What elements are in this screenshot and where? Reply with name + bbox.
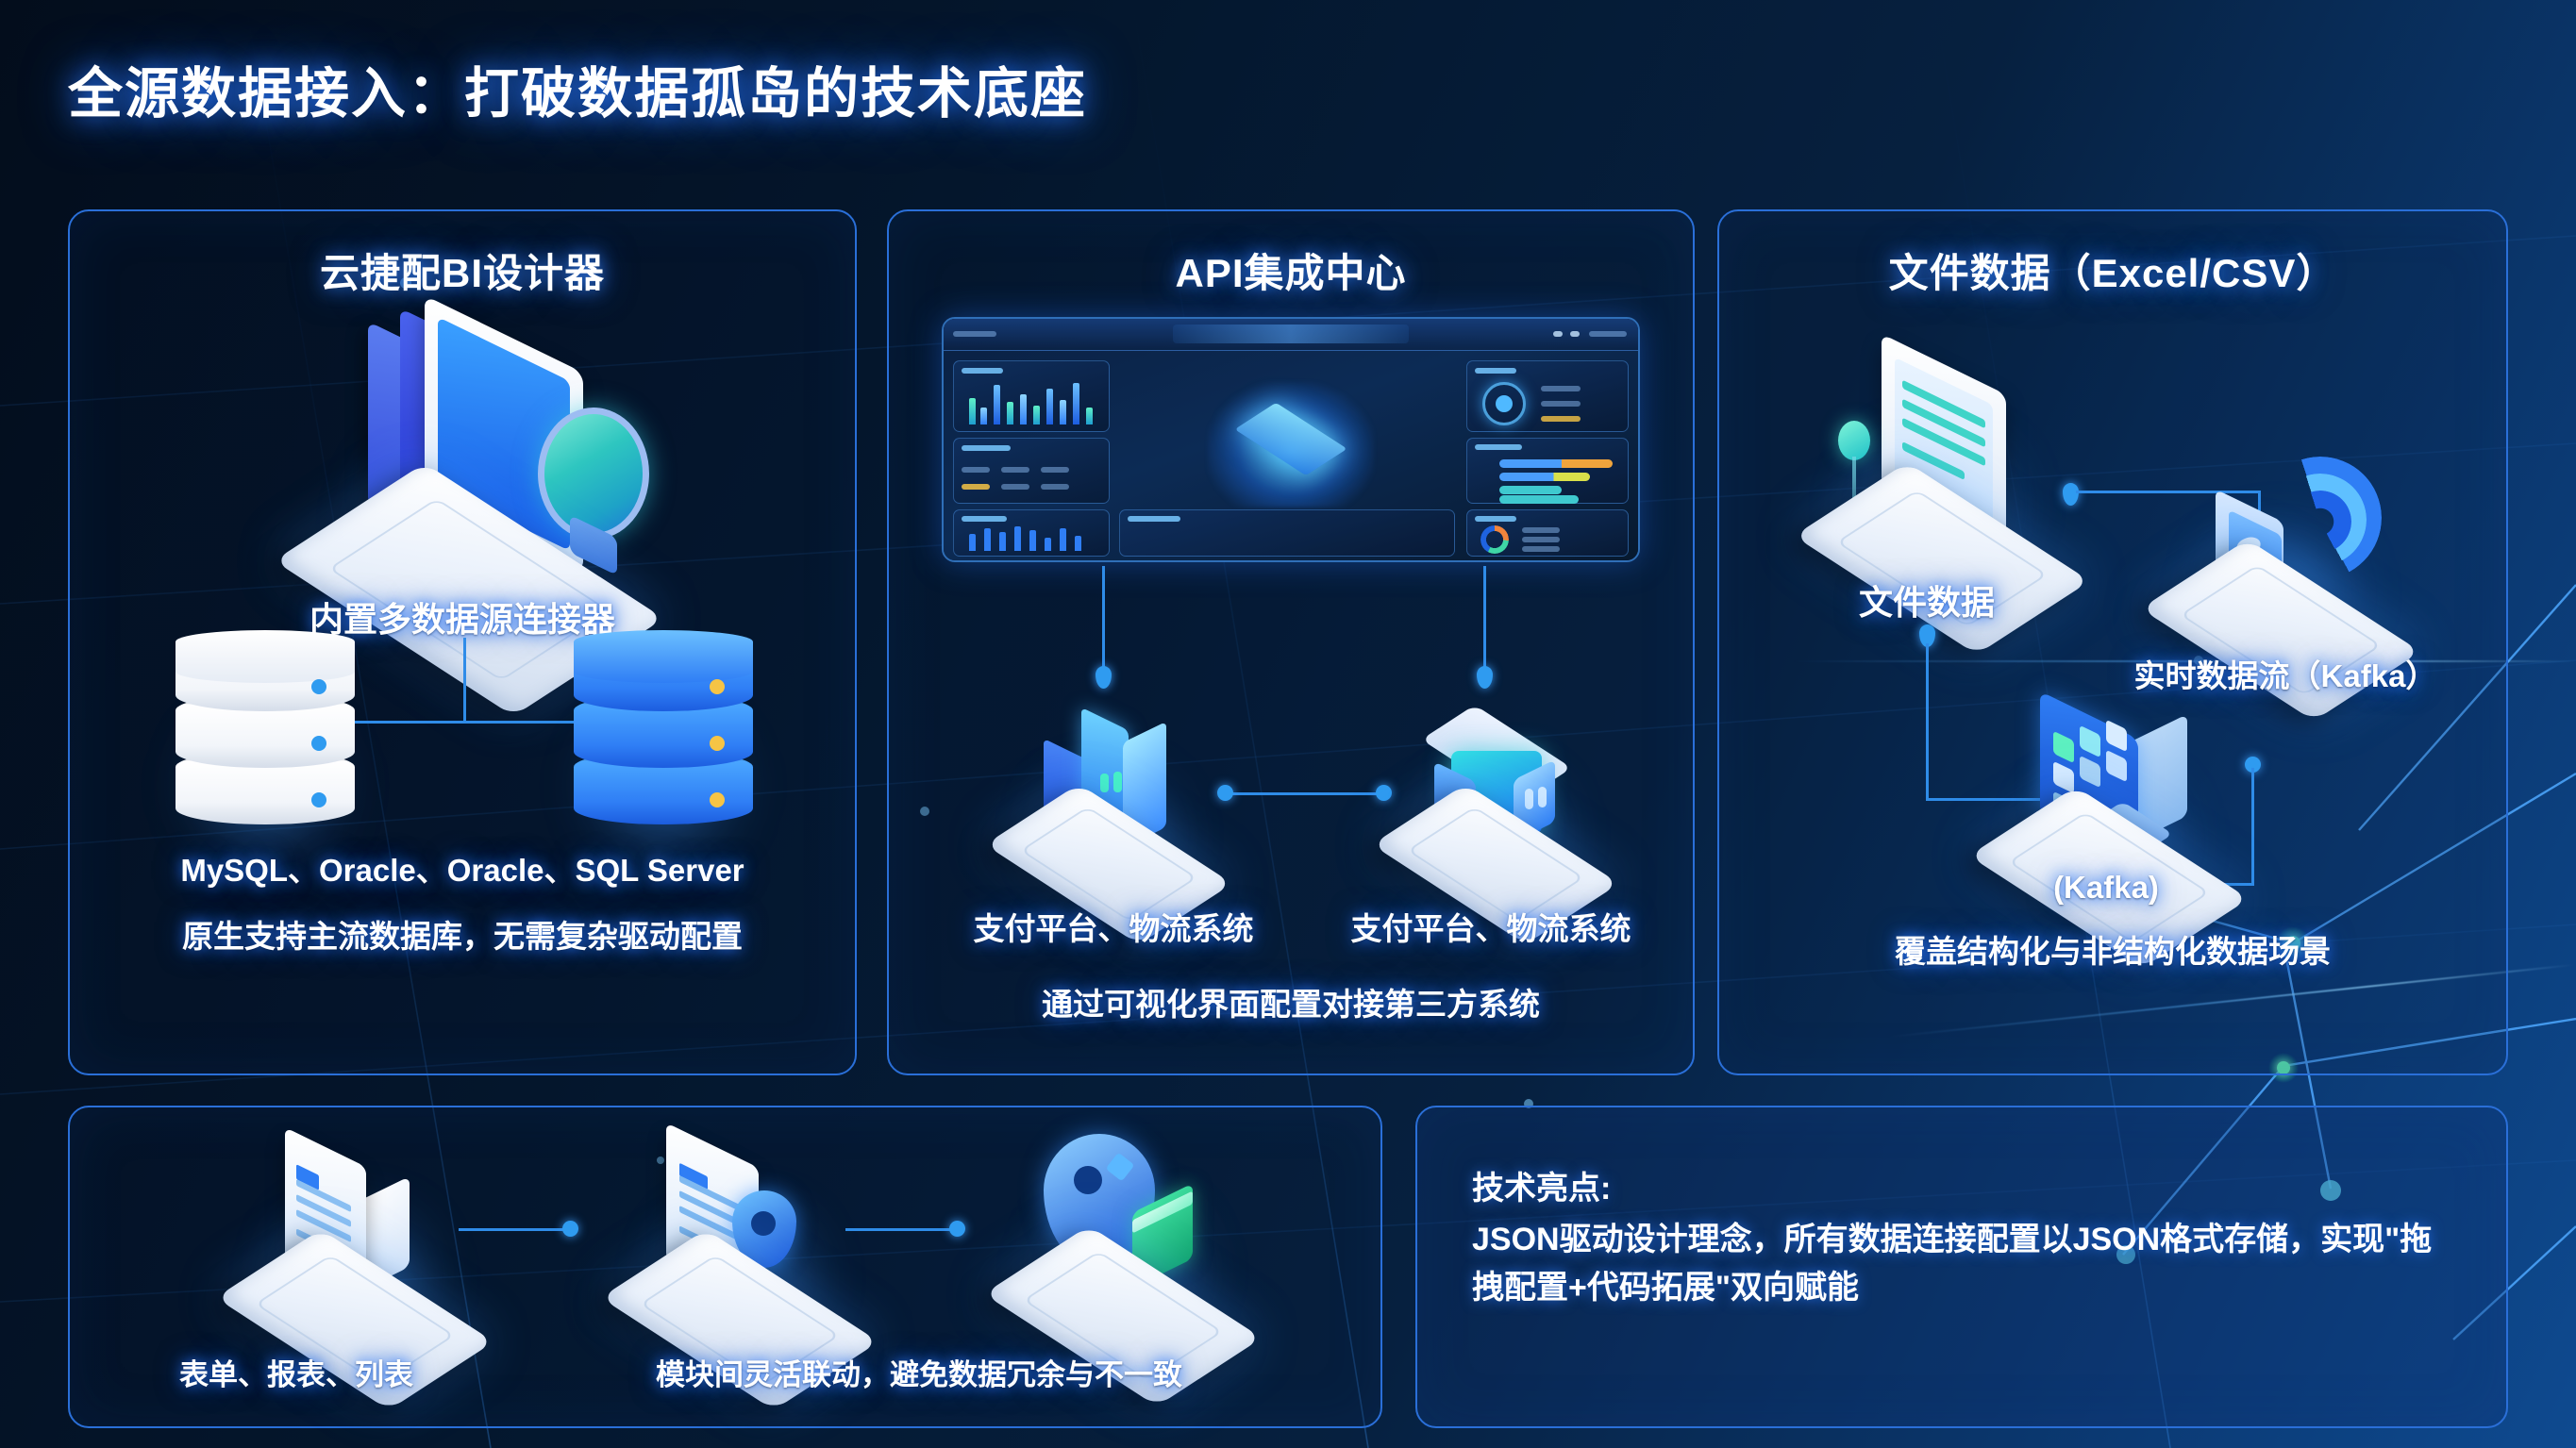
flow-arrow-2 <box>845 1228 957 1231</box>
card-file-title: 文件数据（Excel/CSV） <box>1719 241 2506 299</box>
api-node-right-label: 支付平台、物流系统 <box>1321 904 1661 949</box>
card-api-title: API集成中心 <box>889 241 1693 299</box>
api-dot-left <box>1217 785 1233 801</box>
api-node-left-label: 支付平台、物流系统 <box>944 904 1283 949</box>
database-cylinder-icon-white <box>176 630 355 819</box>
tech-heading: 技术亮点: <box>1472 1162 2461 1208</box>
flow-dot-2 <box>949 1221 965 1237</box>
flow-left-caption: 表单、报表、列表 <box>126 1351 466 1393</box>
database-cylinder-icon-blue <box>574 630 753 819</box>
file-footer: 覆盖结构化与非结构化数据场景 <box>1719 926 2506 972</box>
file-node-label: 文件数据 <box>1776 575 2078 624</box>
file-connector-pin <box>2063 483 2079 506</box>
connector-vertical <box>463 638 466 723</box>
api-stem-right <box>1483 566 1486 674</box>
tech-body-text: JSON驱动设计理念，所有数据连接配置以JSON格式存储，实现"拖拽配置+代码拓… <box>1472 1216 2461 1312</box>
flow-arrow-1 <box>459 1228 570 1231</box>
bi-footer: 原生支持主流数据库，无需复杂驱动配置 <box>70 911 855 957</box>
monitor-globe-icon <box>294 317 644 600</box>
api-stem-left <box>1102 566 1105 674</box>
api-dot-right <box>1376 785 1392 801</box>
panel-module-flow: 表单、报表、列表 模块间灵活联动，避免数据冗余与不一致 <box>68 1106 1382 1428</box>
api-footer: 通过可视化界面配置对接第三方系统 <box>887 979 1695 1024</box>
kafka-connector-v2 <box>2251 768 2254 885</box>
flow-dot-1 <box>562 1221 578 1237</box>
document-location-icon <box>617 1132 862 1340</box>
stream-node-label: 实时数据流（Kafka） <box>2049 651 2521 696</box>
cube-package-icon <box>1397 707 1595 887</box>
bi-dashboard-mock <box>942 317 1640 562</box>
kafka-node-label: (Kafka) <box>1946 870 2267 906</box>
location-pin-icon <box>1000 1124 1246 1340</box>
document-monitor-icon <box>1819 351 2065 568</box>
server-stack-icon <box>1010 707 1208 887</box>
bi-items-caption: MySQL、Oracle、Oracle、SQL Server <box>70 845 855 890</box>
page-title: 全源数据接入：打破数据孤岛的技术底座 <box>68 49 1087 128</box>
kafka-connector-v1 <box>1926 643 1929 800</box>
panel-tech-highlights: 技术亮点: JSON驱动设计理念，所有数据连接配置以JSON格式存储，实现"拖拽… <box>1415 1106 2508 1428</box>
api-connector <box>1226 792 1384 795</box>
flow-right-caption: 模块间灵活联动，避免数据冗余与不一致 <box>485 1351 1353 1393</box>
card-bi-designer: 云捷配BI设计器 内置多数据源连接器 <box>68 209 857 1075</box>
card-bi-title: 云捷配BI设计器 <box>70 241 855 299</box>
card-file-data: 文件数据（Excel/CSV） 文件数据 实时数据流（Kafka） <box>1717 209 2508 1075</box>
wifi-signal-icon <box>2163 443 2399 651</box>
document-icon <box>232 1132 477 1340</box>
